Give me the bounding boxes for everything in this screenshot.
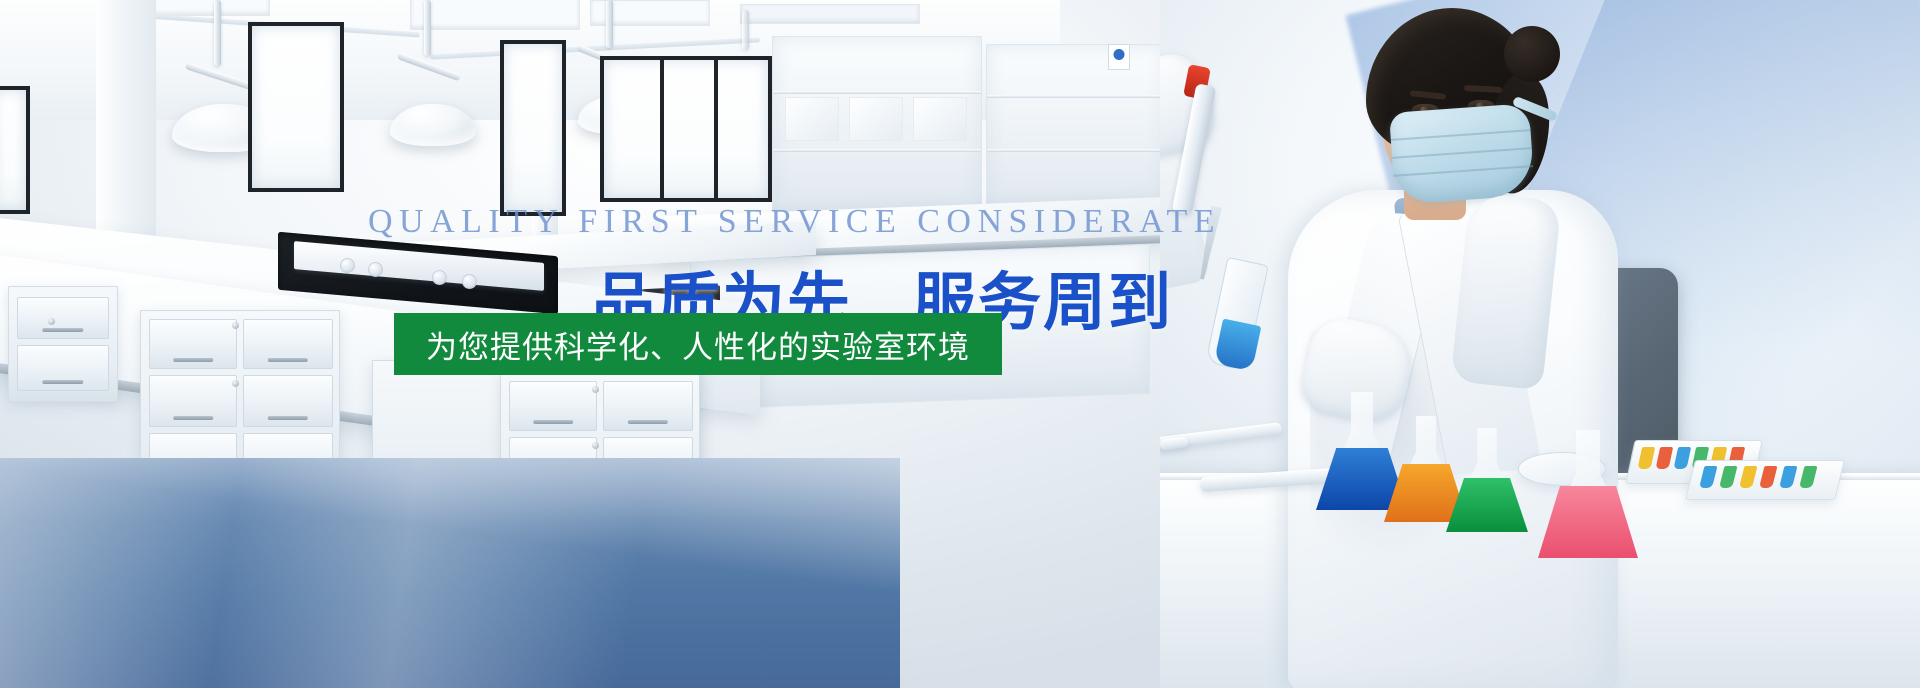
- banner-eyebrow-english: QUALITY FIRST SERVICE CONSIDERATE: [368, 203, 1221, 241]
- hero-banner: QUALITY FIRST SERVICE CONSIDERATE 品质为先 服…: [0, 0, 1920, 688]
- banner-subtitle-text: 为您提供科学化、人性化的实验室环境: [426, 322, 970, 367]
- banner-subtitle-bar: 为您提供科学化、人性化的实验室环境: [394, 313, 1002, 375]
- text-overlay: QUALITY FIRST SERVICE CONSIDERATE 品质为先 服…: [0, 0, 1920, 688]
